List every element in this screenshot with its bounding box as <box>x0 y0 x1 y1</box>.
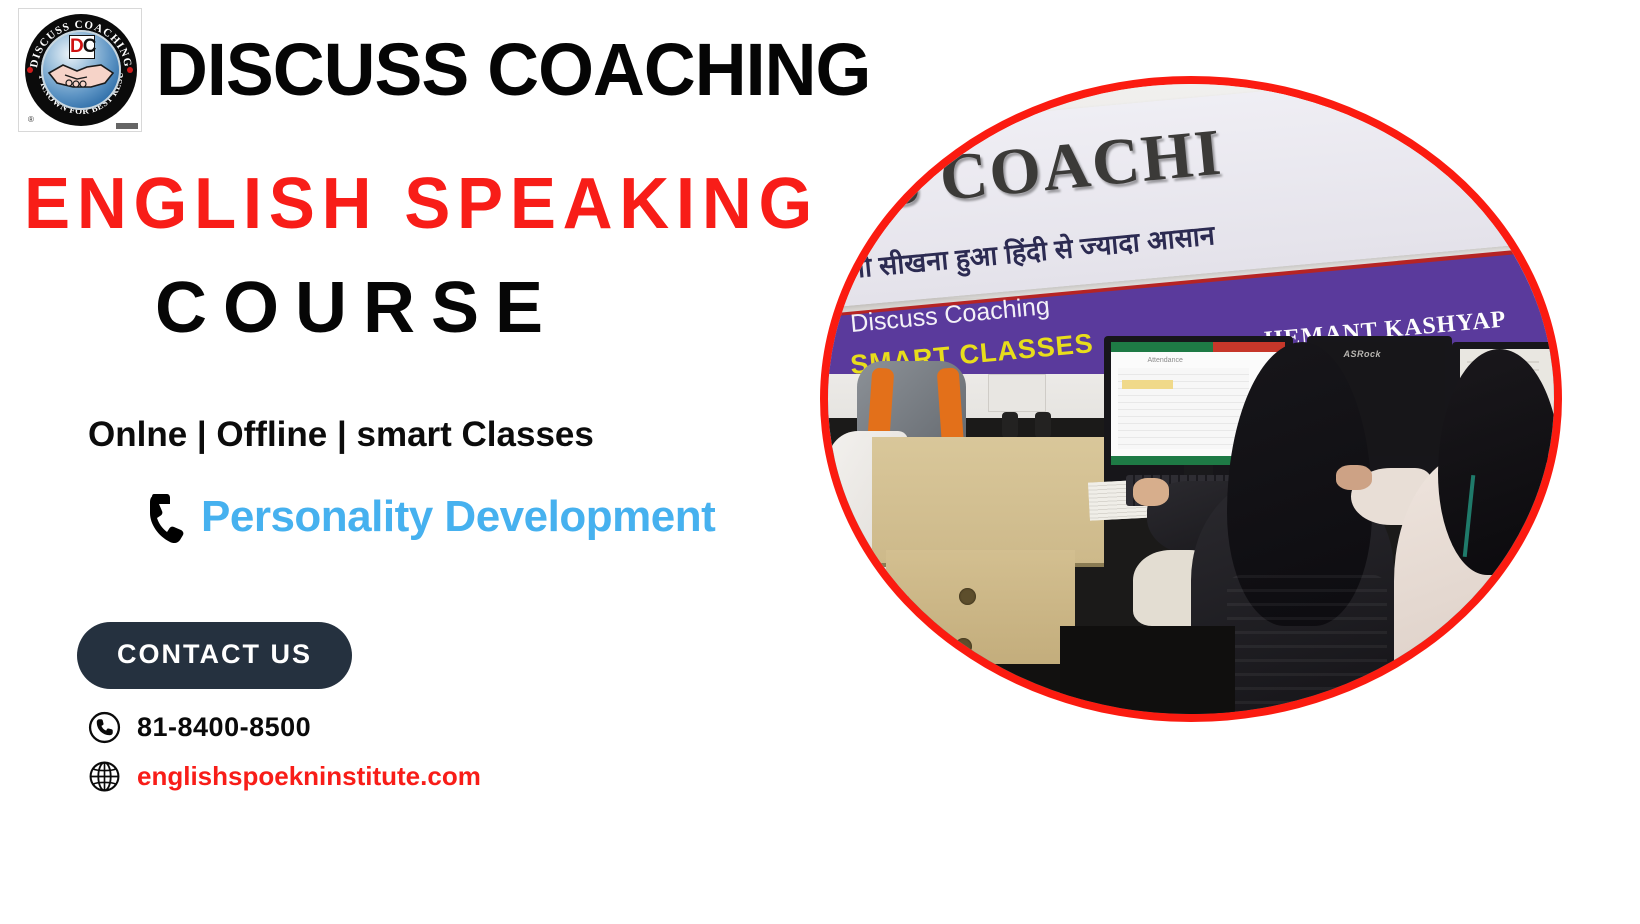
classroom-photo: SS COACHI जी सीखना हुआ हिंदी से ज्यादा आ… <box>820 76 1562 722</box>
page-title: DISCUSS COACHING <box>156 33 870 107</box>
logo-dot-left <box>27 67 33 73</box>
spreadsheet-title: Attendance <box>1147 357 1182 364</box>
student-two-hand <box>1336 465 1372 490</box>
drawer-knob-upper <box>959 588 976 605</box>
logo-monogram: DC <box>69 35 95 59</box>
phone-number: 81-8400-8500 <box>137 712 311 743</box>
phone-contact-row[interactable]: 81-8400-8500 <box>88 711 311 744</box>
personality-development-text: Personality Development <box>201 492 715 542</box>
telephone-handset-icon <box>145 491 191 547</box>
globe-icon <box>88 760 121 793</box>
spreadsheet-red-bar <box>1213 342 1286 352</box>
brand-header: DISCUSS COACHING ONLY KNOWN FOR BEST RES… <box>18 8 892 132</box>
personality-development-row: Personality Development <box>145 487 715 547</box>
class-modes-text: Onlne | Offline | smart Classes <box>88 415 594 455</box>
student-one-hand <box>1133 478 1169 506</box>
wooden-desk-top <box>872 437 1104 567</box>
wall-socket <box>988 374 1046 412</box>
headline-course: COURSE <box>155 272 559 344</box>
logo-corner-tag <box>116 123 138 129</box>
spreadsheet-highlight <box>1122 380 1173 389</box>
headline-english-speaking: ENGLISH SPEAKING <box>24 168 819 240</box>
discuss-coaching-logo: DISCUSS COACHING ONLY KNOWN FOR BEST RES… <box>18 8 142 132</box>
floor-shadow <box>1060 626 1234 714</box>
desk-shadow <box>886 664 1082 714</box>
phone-in-circle-icon <box>88 711 121 744</box>
website-contact-row[interactable]: englishspoekninstitute.com <box>88 760 481 793</box>
poster-canvas: DISCUSS COACHING ONLY KNOWN FOR BEST RES… <box>0 0 1640 924</box>
monitor-brand-label: ASRock <box>1343 349 1381 359</box>
photo-circle-frame: SS COACHI जी सीखना हुआ हिंदी से ज्यादा आ… <box>820 76 1562 722</box>
logo-registered-mark: ® <box>28 115 34 124</box>
logo-monogram-c: C <box>83 36 96 57</box>
logo-monogram-d: D <box>70 36 83 57</box>
handshake-icon <box>47 57 115 93</box>
website-url: englishspoekninstitute.com <box>137 761 481 792</box>
contact-us-button[interactable]: CONTACT US <box>77 622 352 689</box>
chair <box>1227 575 1387 714</box>
logo-dot-right <box>127 67 133 73</box>
